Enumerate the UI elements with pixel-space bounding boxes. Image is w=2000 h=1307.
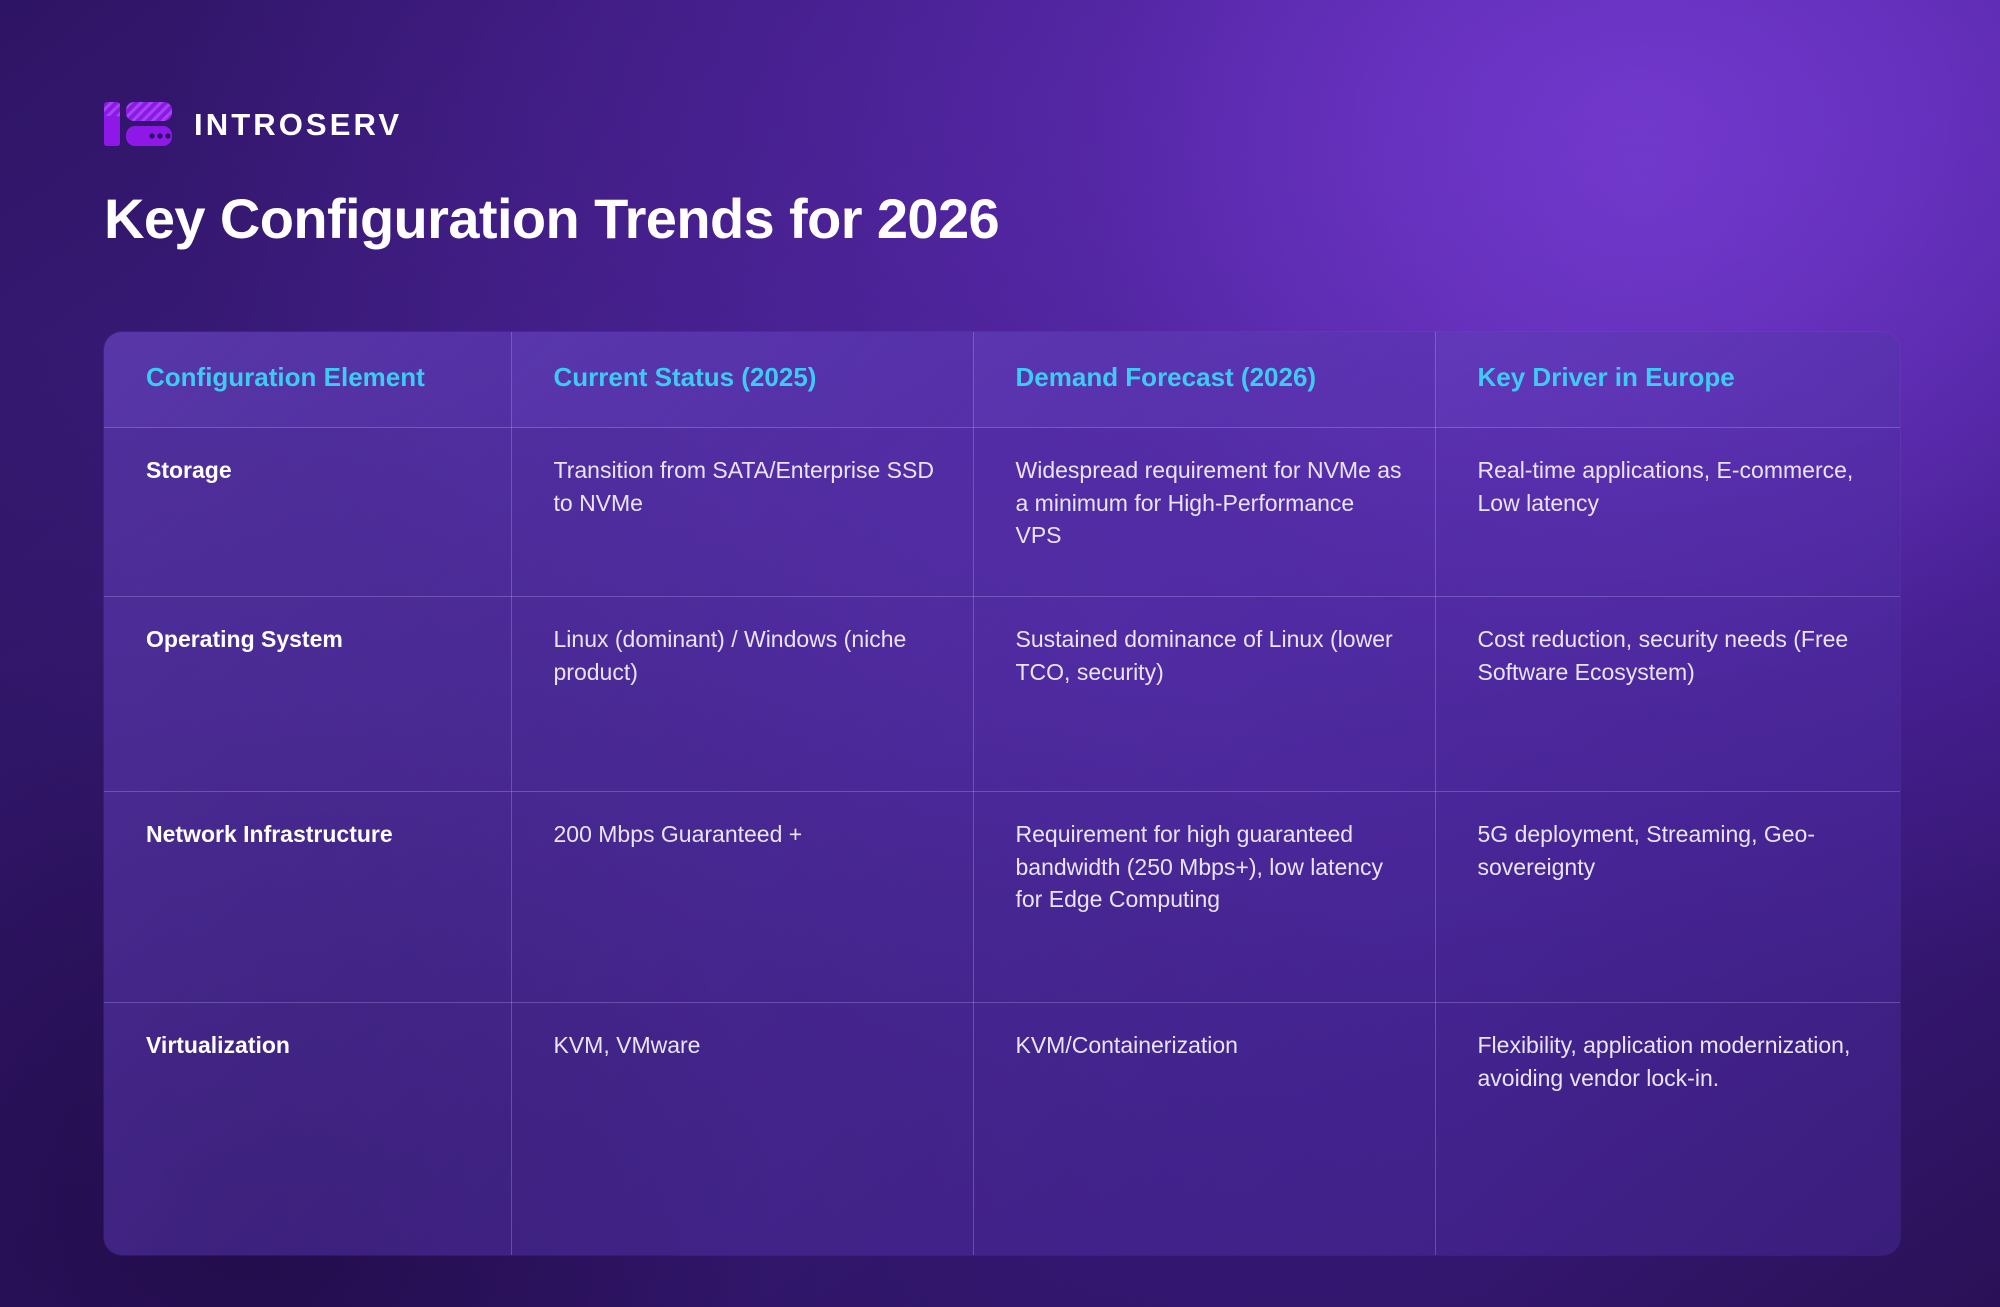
- cell-demand-forecast: Requirement for high guaranteed bandwidt…: [973, 792, 1435, 1003]
- cell-key-driver: Cost reduction, security needs (Free Sof…: [1435, 597, 1900, 792]
- cell-element: Operating System: [104, 597, 511, 792]
- table-row: Operating System Linux (dominant) / Wind…: [104, 597, 1900, 792]
- cell-current-status: Linux (dominant) / Windows (niche produc…: [511, 597, 973, 792]
- brand-name: INTROSERV: [194, 109, 402, 140]
- cell-demand-forecast: Widespread requirement for NVMe as a min…: [973, 428, 1435, 597]
- slide-canvas: INTROSERV Key Configuration Trends for 2…: [0, 0, 2000, 1307]
- column-header-current-status: Current Status (2025): [511, 332, 973, 428]
- cell-current-status: 200 Mbps Guaranteed +: [511, 792, 973, 1003]
- cell-key-driver: 5G deployment, Streaming, Geo-sovereignt…: [1435, 792, 1900, 1003]
- brand-logo[interactable]: INTROSERV: [104, 98, 402, 151]
- cell-element: Virtualization: [104, 1003, 511, 1256]
- cell-key-driver: Flexibility, application modernization, …: [1435, 1003, 1900, 1256]
- cell-element: Network Infrastructure: [104, 792, 511, 1003]
- cell-demand-forecast: Sustained dominance of Linux (lower TCO,…: [973, 597, 1435, 792]
- table-row: Network Infrastructure 200 Mbps Guarante…: [104, 792, 1900, 1003]
- cell-current-status: Transition from SATA/Enterprise SSD to N…: [511, 428, 973, 597]
- column-header-demand-forecast: Demand Forecast (2026): [973, 332, 1435, 428]
- table-body: Storage Transition from SATA/Enterprise …: [104, 428, 1900, 1256]
- table-header: Configuration Element Current Status (20…: [104, 332, 1900, 428]
- trends-table-card: Configuration Element Current Status (20…: [104, 332, 1900, 1255]
- cell-current-status: KVM, VMware: [511, 1003, 973, 1256]
- table-row: Storage Transition from SATA/Enterprise …: [104, 428, 1900, 597]
- cell-key-driver: Real-time applications, E-commerce, Low …: [1435, 428, 1900, 597]
- table-row: Virtualization KVM, VMware KVM/Container…: [104, 1003, 1900, 1256]
- column-header-key-driver: Key Driver in Europe: [1435, 332, 1900, 428]
- page-title: Key Configuration Trends for 2026: [104, 188, 999, 250]
- server-rack-icon: [104, 98, 172, 151]
- table-header-row: Configuration Element Current Status (20…: [104, 332, 1900, 428]
- cell-element: Storage: [104, 428, 511, 597]
- trends-table: Configuration Element Current Status (20…: [104, 332, 1900, 1255]
- cell-demand-forecast: KVM/Containerization: [973, 1003, 1435, 1256]
- column-header-configuration-element: Configuration Element: [104, 332, 511, 428]
